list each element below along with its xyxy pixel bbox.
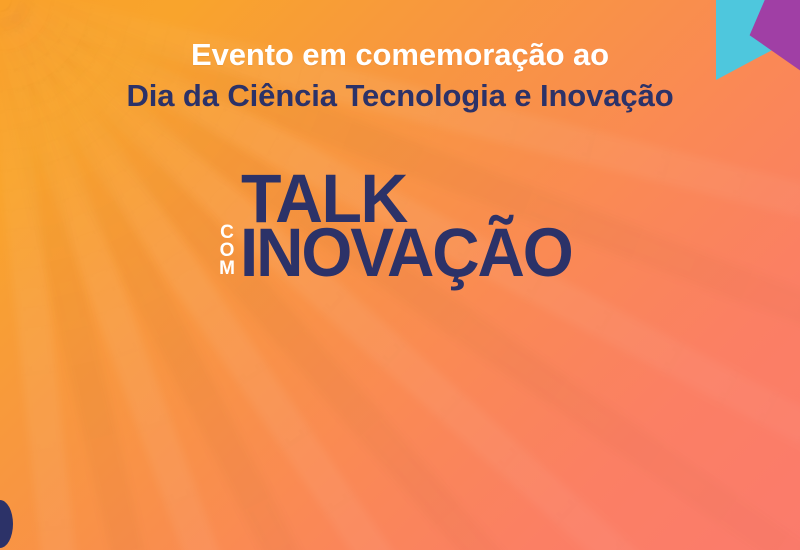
page-title: Evento em comemoração ao Dia da Ciência …: [0, 38, 800, 113]
logo-prefix-com: C O M: [213, 224, 241, 279]
talk-com-inovacao-logo: C O M TALK INOVAÇÃO: [205, 172, 625, 312]
headline-line-2: Dia da Ciência Tecnologia e Inovação: [0, 79, 800, 112]
headline-line-1: Evento em comemoração ao: [0, 38, 800, 71]
logo-prefix-letter-m: M: [219, 260, 235, 278]
logo-word-inovacao: INOVAÇÃO: [240, 224, 572, 283]
event-poster: Evento em comemoração ao Dia da Ciência …: [0, 0, 800, 550]
